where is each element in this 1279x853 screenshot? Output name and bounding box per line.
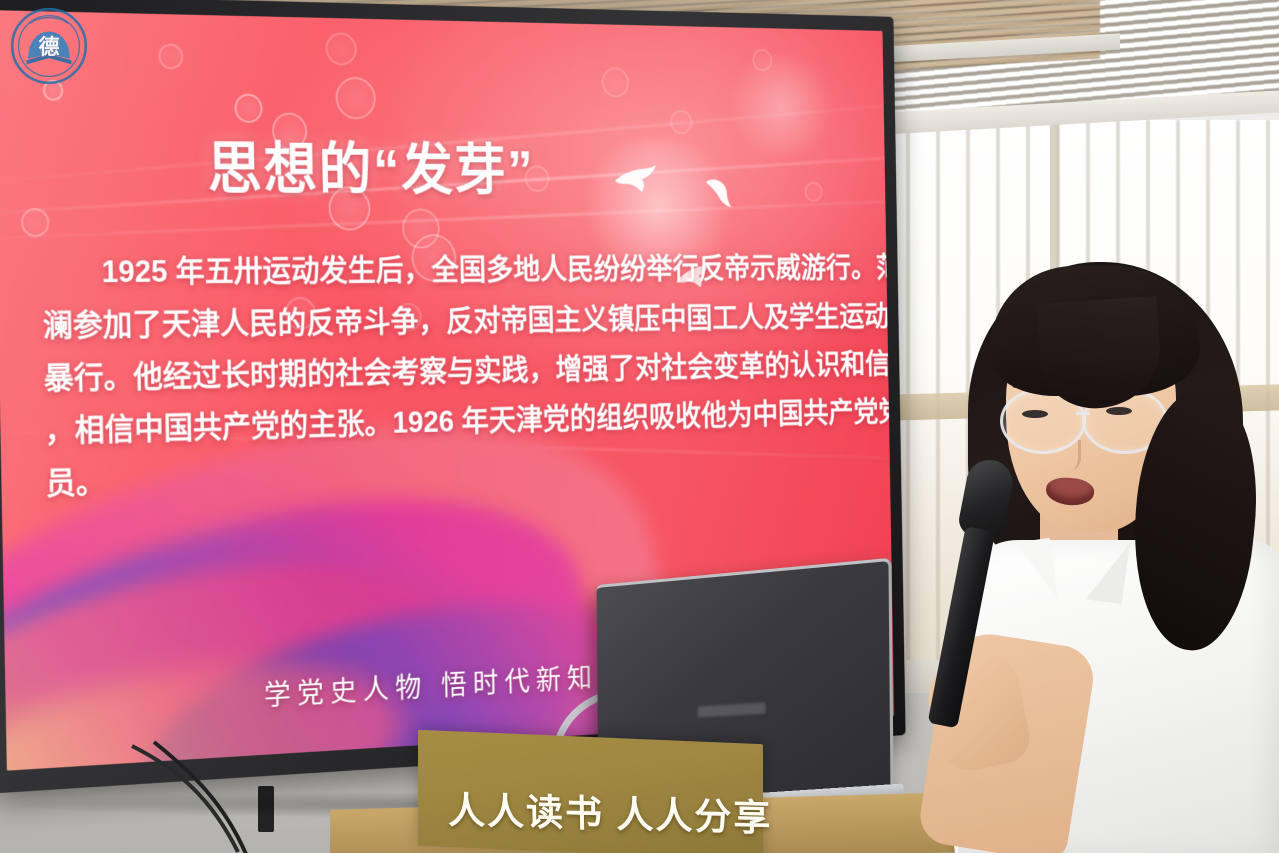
screenshot-root: 思想的“发芽” 1925 年五卅运动发生后，全国多地人民纷纷举行反帝示威游行。范… — [0, 0, 1279, 853]
glasses-bridge — [1076, 412, 1090, 415]
laptop-brand-logo-icon — [698, 702, 766, 717]
presenter — [880, 240, 1279, 853]
svg-text:德: 德 — [39, 35, 60, 59]
nameplate-text: 人人读书 人人分享 — [448, 780, 773, 842]
desk-nameplate: 人人读书 人人分享 — [418, 730, 763, 853]
school-seal-logo-icon: 德 — [8, 6, 90, 86]
